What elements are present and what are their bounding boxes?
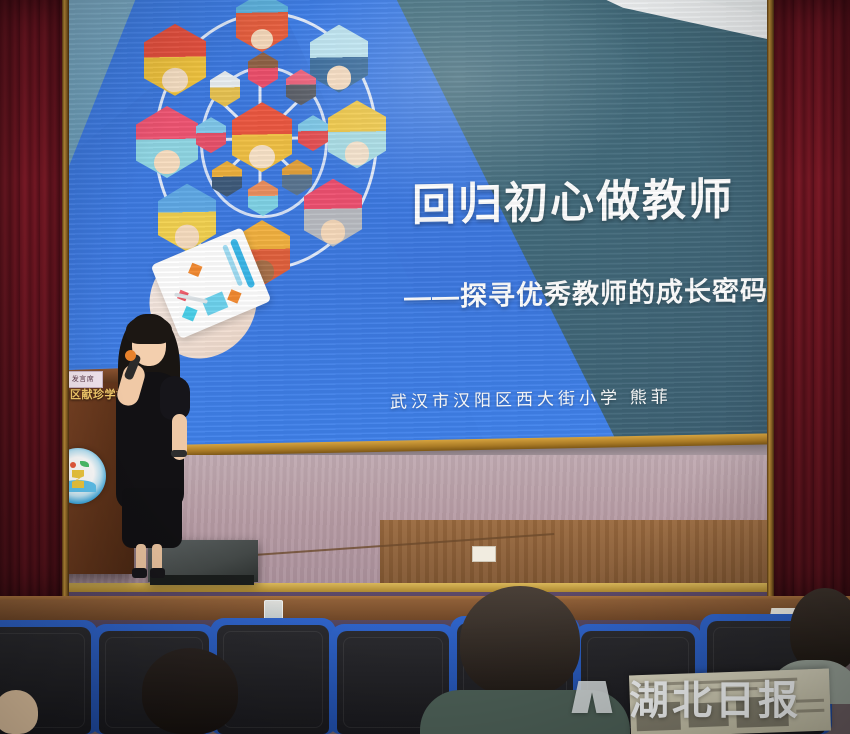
watermark-text: 湖北日报 — [629, 668, 801, 726]
presenter-person — [104, 310, 200, 578]
emblem-ribbon — [72, 470, 84, 488]
people-network-illustration — [132, 0, 392, 287]
stage-curtain-left — [0, 0, 62, 600]
slide-title: 回归初心做教师 — [412, 163, 734, 233]
slide-subtitle: ——探寻优秀教师的成长密码 — [404, 268, 768, 314]
presenter-sleeve — [160, 376, 190, 420]
presenter-watch — [171, 450, 187, 457]
curtain-gold-trim-right — [767, 0, 774, 600]
tablet-square — [227, 289, 241, 303]
presenter-hair-front — [126, 316, 172, 344]
auditorium-scene: 回归初心做教师 ——探寻优秀教师的成长密码 武汉市汉阳区西大街小学 熊菲 发言席… — [0, 0, 850, 734]
tablet-square — [188, 263, 202, 277]
presenter-skirt — [122, 488, 182, 548]
stage-floor-box — [472, 546, 496, 562]
watermark: 湖北日报 — [575, 668, 801, 726]
stage-curtain-right — [774, 0, 850, 600]
hubei-daily-logo-icon — [575, 677, 619, 717]
audience-person-head — [460, 586, 580, 696]
emblem-sun-dot — [70, 462, 76, 468]
microphone-head — [125, 350, 136, 361]
audience-person-head — [0, 690, 38, 734]
presenter-shoe — [132, 568, 147, 578]
audience-person-head — [142, 648, 238, 734]
curtain-gold-trim-left — [62, 0, 69, 600]
emblem-leaf — [80, 461, 89, 467]
presenter-shoe — [150, 568, 165, 578]
